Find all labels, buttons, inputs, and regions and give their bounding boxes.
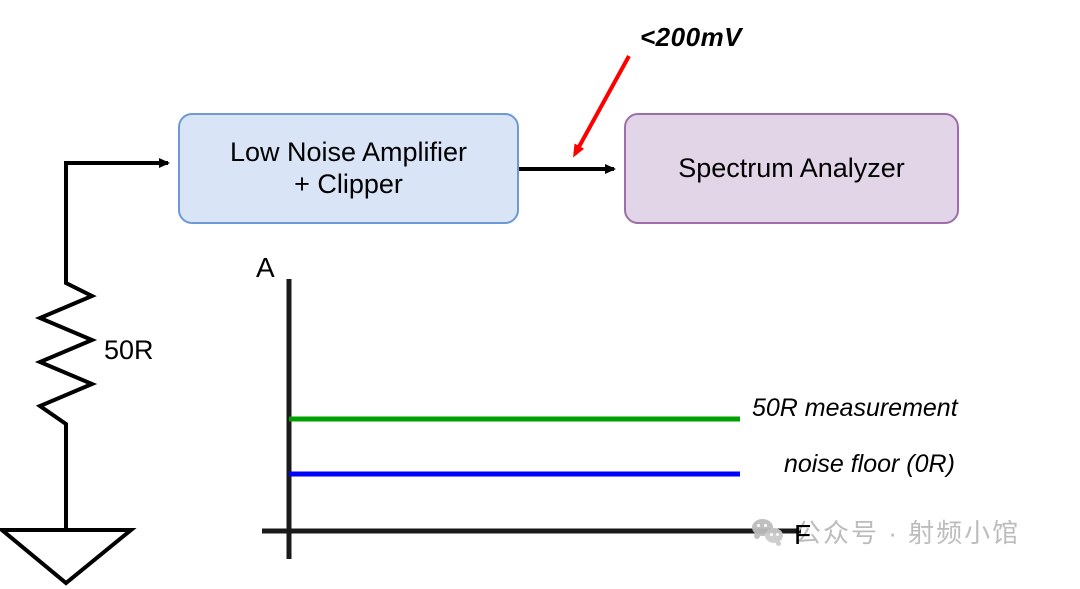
block-low-noise-amplifier[interactable]: Low Noise Amplifier + Clipper [178,113,519,224]
annotation-voltage-label: <200mV [640,22,742,53]
diagram-canvas: 公众号 · 射频小馆 Low Noise Amplifier + Clipper… [0,0,1080,589]
wechat-logo-icon [752,518,786,546]
annotation-arrow-icon [575,56,629,154]
legend-item-50r-measurement: 50R measurement [752,394,958,423]
ground-triangle-icon [2,530,131,583]
watermark: 公众号 · 射频小馆 [752,513,1020,550]
plot-y-axis-label: A [256,252,275,284]
block-spectrum-analyzer[interactable]: Spectrum Analyzer [624,113,959,224]
block-label-lna: Low Noise Amplifier + Clipper [230,137,467,199]
legend-item-noise-floor: noise floor (0R) [784,450,955,479]
plot-x-axis-label: F [794,519,811,551]
watermark-text: 公众号 · 射频小馆 [795,513,1020,550]
wire-source-to-lna [66,163,168,270]
resistor-symbol [40,270,92,437]
block-label-spectrum-analyzer: Spectrum Analyzer [678,153,905,184]
resistor-value-label: 50R [104,335,154,366]
diagram-vector-layer [0,0,1080,589]
